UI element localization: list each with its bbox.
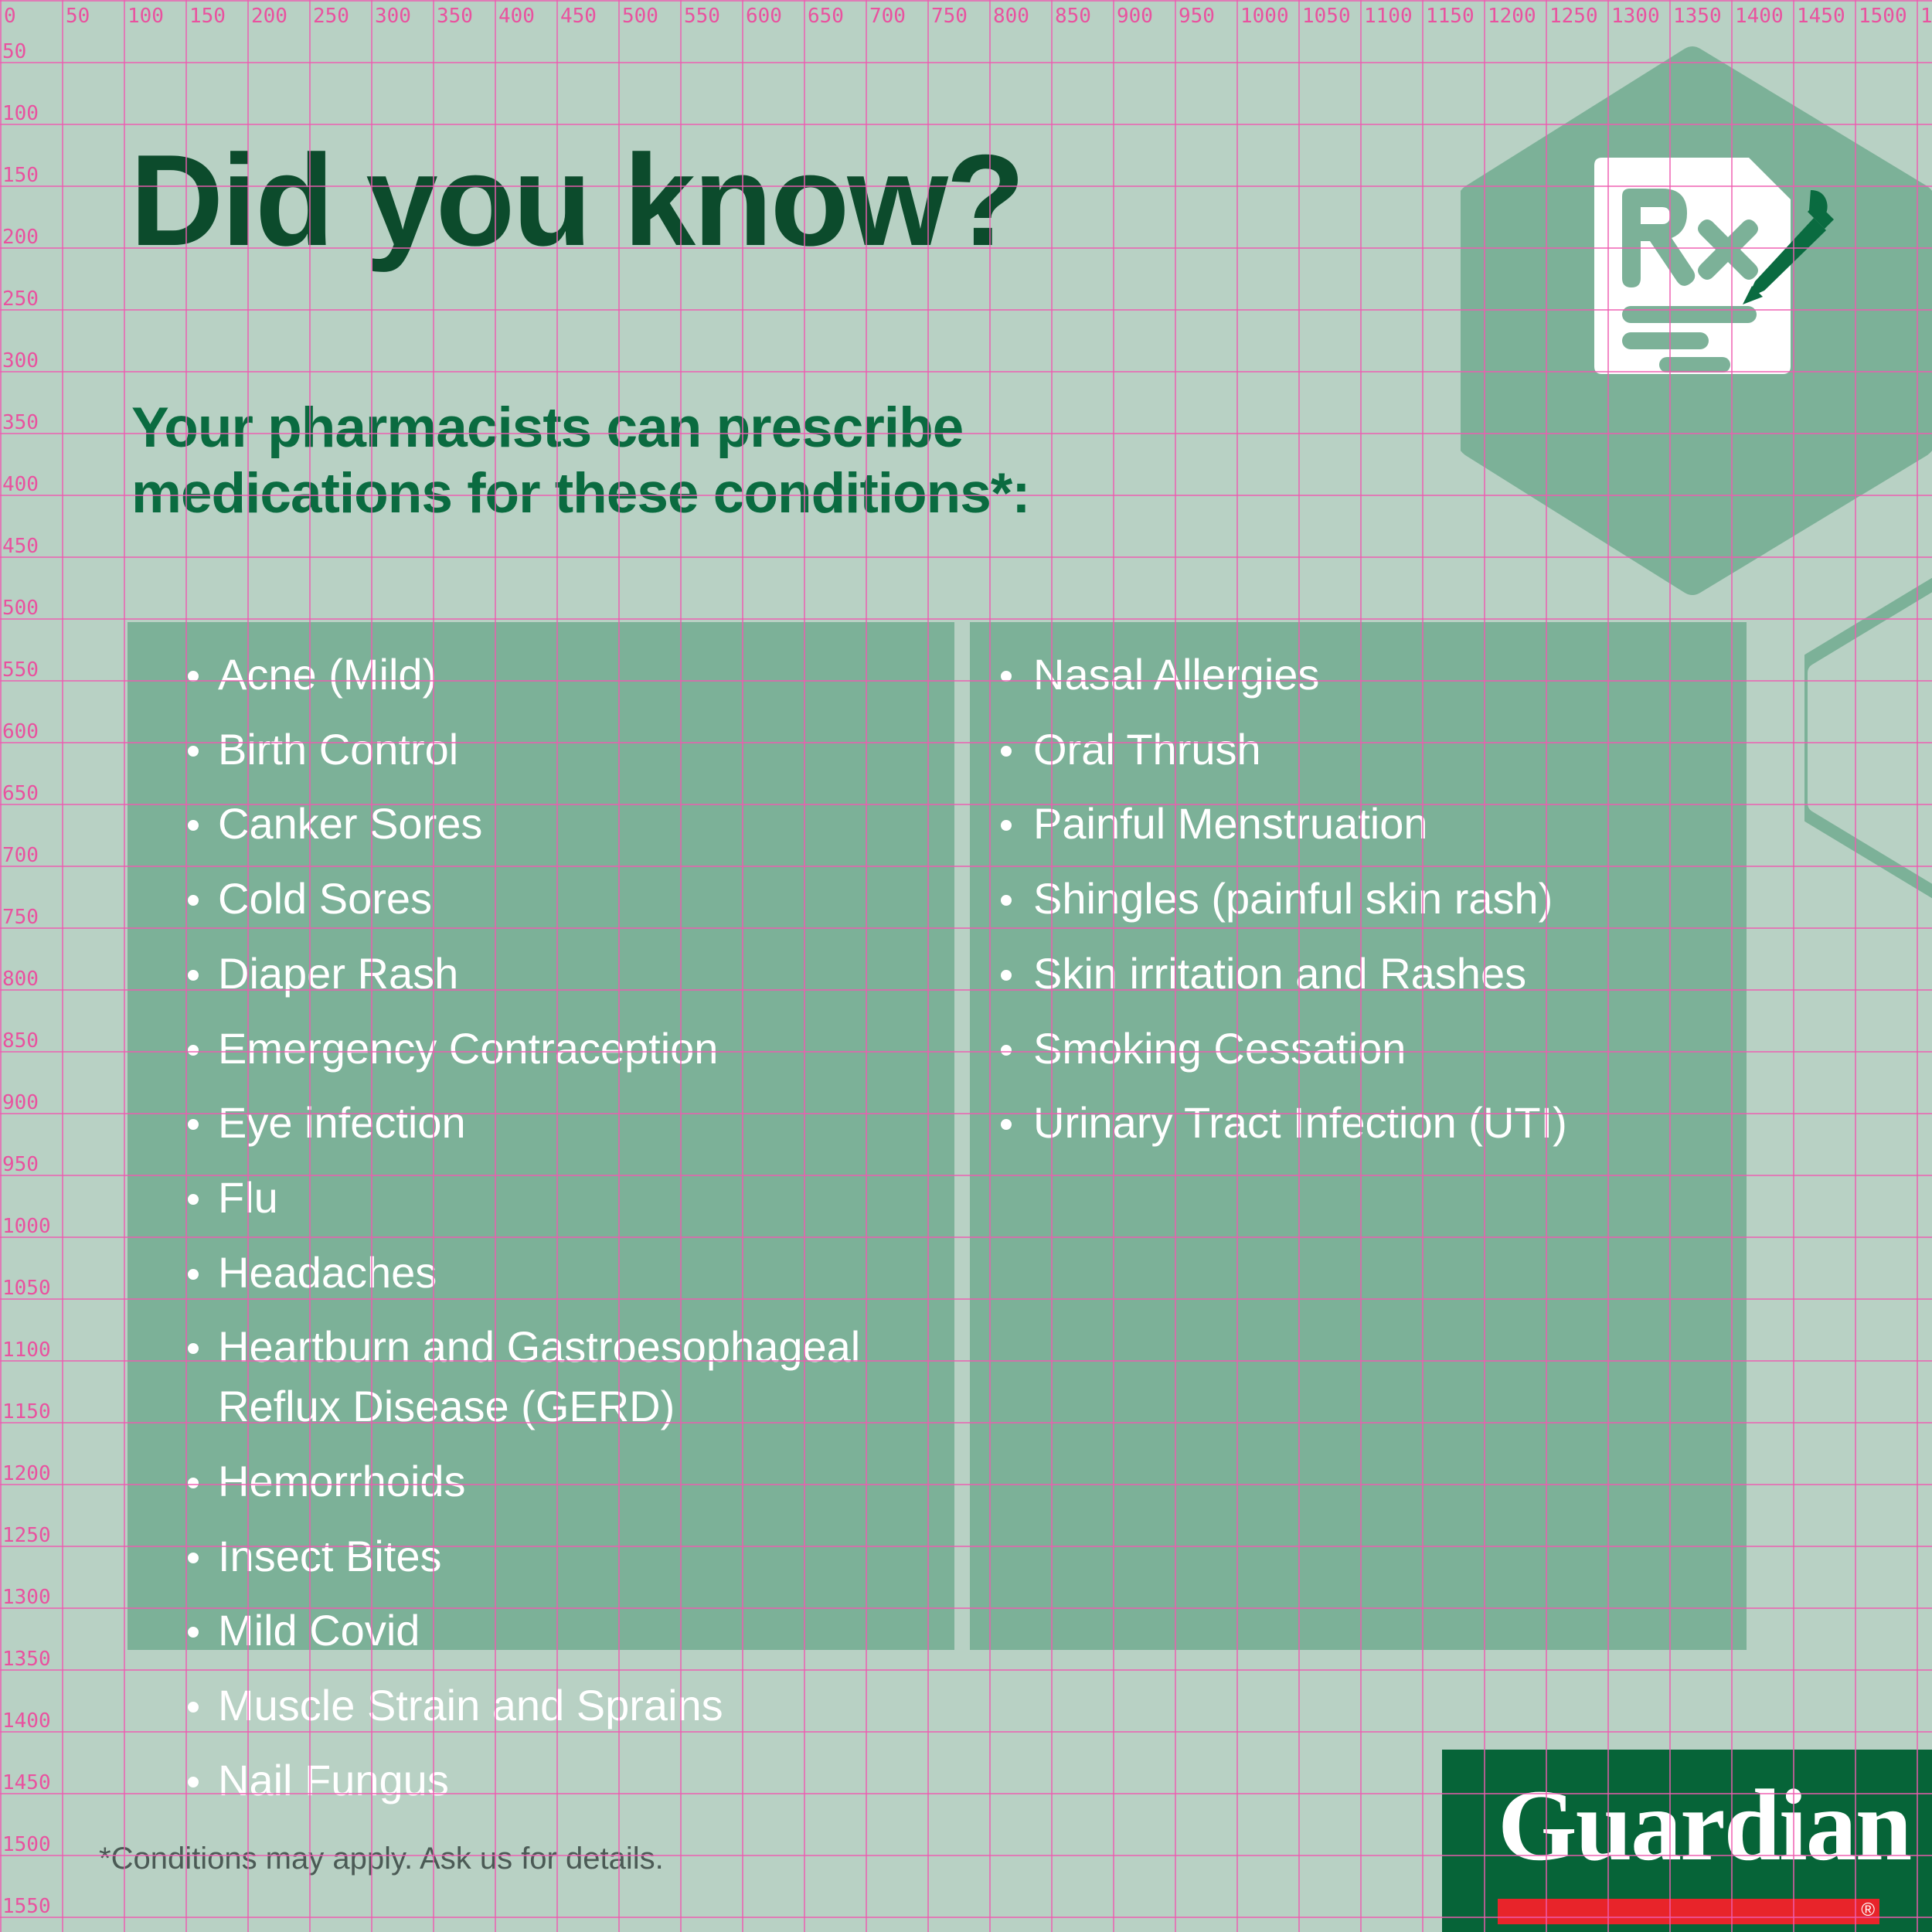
condition-list-item: Emergency Contraception [185, 1019, 927, 1079]
bullet-icon [1001, 1045, 1012, 1056]
grid-line-horizontal [0, 618, 1932, 620]
condition-list-item: Birth Control [185, 720, 927, 780]
grid-label-x: 50 [66, 6, 90, 26]
footnote-text: *Conditions may apply. Ask us for detail… [99, 1842, 664, 1876]
condition-label: Birth Control [218, 725, 458, 774]
condition-label: Headaches [218, 1248, 437, 1297]
grid-label-x: 200 [251, 6, 287, 26]
condition-label: Muscle Strain and Sprains [218, 1681, 723, 1730]
bullet-icon [188, 1702, 199, 1713]
subtitle-line-1: Your pharmacists can prescribe [131, 396, 1291, 461]
bullet-icon [188, 1194, 199, 1205]
grid-label-x: 600 [746, 6, 782, 26]
grid-label-y: 1100 [2, 1340, 51, 1360]
grid-label-x: 1250 [1549, 6, 1598, 26]
grid-label-y: 1550 [2, 1896, 51, 1917]
hexagon-outline-icon [1804, 568, 1932, 908]
bullet-icon [1001, 895, 1012, 906]
condition-label: Insect Bites [218, 1532, 441, 1580]
bullet-icon [188, 1553, 199, 1563]
grid-line-vertical [0, 0, 2, 1932]
grid-label-x: 0 [4, 6, 16, 26]
grid-label-y: 100 [2, 104, 39, 124]
guardian-logo: Guardian ® [1442, 1750, 1932, 1932]
grid-label-x: 1050 [1302, 6, 1351, 26]
bullet-icon [1001, 1119, 1012, 1130]
grid-label-x: 1200 [1488, 6, 1536, 26]
condition-label: Heartburn and Gastroesophageal Reflux Di… [218, 1322, 860, 1430]
grid-label-x: 1500 [1859, 6, 1907, 26]
grid-label-x: 450 [560, 6, 597, 26]
poster-canvas: Did you know? Your pharmacists can presc… [0, 0, 1932, 1932]
grid-label-x: 250 [313, 6, 349, 26]
condition-label: Painful Menstruation [1033, 799, 1428, 848]
condition-label: Eye infection [218, 1098, 466, 1147]
grid-line-vertical [1917, 0, 1918, 1932]
grid-label-x: 100 [128, 6, 164, 26]
condition-list-item: Painful Menstruation [1001, 794, 1743, 854]
grid-label-y: 400 [2, 474, 39, 495]
condition-list-item: Skin irritation and Rashes [1001, 944, 1743, 1004]
grid-label-y: 650 [2, 784, 39, 804]
condition-label: Nail Fungus [218, 1756, 449, 1804]
grid-label-y: 900 [2, 1093, 39, 1113]
grid-line-horizontal [0, 0, 1932, 2]
grid-line-vertical [124, 0, 125, 1932]
bullet-icon [188, 820, 199, 831]
bullet-icon [1001, 746, 1012, 757]
condition-list-item: Oral Thrush [1001, 720, 1743, 780]
grid-label-x: 1300 [1611, 6, 1660, 26]
grid-label-y: 750 [2, 907, 39, 927]
condition-list-item: Insect Bites [185, 1527, 927, 1587]
condition-list-item: Acne (Mild) [185, 645, 927, 705]
grid-label-x: 1350 [1673, 6, 1722, 26]
bullet-icon [1001, 820, 1012, 831]
condition-list-item: Nail Fungus [185, 1751, 927, 1811]
condition-list-item: Smoking Cessation [1001, 1019, 1743, 1079]
grid-label-x: 400 [498, 6, 535, 26]
bullet-icon [188, 970, 199, 981]
grid-line-vertical [1793, 0, 1794, 1932]
grid-label-x: 300 [375, 6, 411, 26]
grid-label-y: 850 [2, 1031, 39, 1051]
grid-label-x: 350 [437, 6, 473, 26]
grid-line-vertical [1855, 0, 1856, 1932]
grid-label-x: 650 [808, 6, 844, 26]
grid-label-y: 1200 [2, 1464, 51, 1484]
grid-label-y: 1500 [2, 1835, 51, 1855]
bullet-icon [188, 746, 199, 757]
condition-label: Shingles (painful skin rash) [1033, 874, 1553, 923]
bullet-icon [188, 1627, 199, 1638]
logo-wordmark: Guardian [1498, 1774, 1910, 1876]
condition-label: Acne (Mild) [218, 650, 437, 699]
page-subtitle: Your pharmacists can prescribe medicatio… [131, 396, 1291, 526]
grid-label-x: 1000 [1240, 6, 1289, 26]
grid-label-y: 150 [2, 165, 39, 185]
grid-label-y: 350 [2, 413, 39, 433]
grid-label-y: 300 [2, 351, 39, 371]
condition-list-item: Eye infection [185, 1094, 927, 1153]
condition-list-item: Urinary Tract Infection (UTI) [1001, 1094, 1743, 1153]
grid-line-horizontal [0, 371, 1932, 372]
grid-label-x: 1550 [1920, 6, 1932, 26]
condition-label: Skin irritation and Rashes [1033, 949, 1526, 998]
condition-label: Diaper Rash [218, 949, 458, 998]
condition-label: Mild Covid [218, 1606, 420, 1655]
bullet-icon [188, 1777, 199, 1787]
grid-label-y: 1050 [2, 1278, 51, 1298]
condition-list-item: Muscle Strain and Sprains [185, 1676, 927, 1736]
grid-label-y: 1250 [2, 1526, 51, 1546]
grid-label-y: 250 [2, 289, 39, 309]
condition-list-item: Diaper Rash [185, 944, 927, 1004]
grid-label-y: 200 [2, 227, 39, 247]
grid-label-y: 450 [2, 536, 39, 556]
grid-line-vertical [62, 0, 63, 1932]
grid-label-x: 1100 [1364, 6, 1413, 26]
page-title: Did you know? [130, 135, 1023, 265]
grid-label-x: 950 [1179, 6, 1215, 26]
grid-label-x: 500 [622, 6, 658, 26]
grid-label-y: 1150 [2, 1402, 51, 1422]
grid-label-y: 500 [2, 598, 39, 618]
condition-list-item: Cold Sores [185, 869, 927, 929]
bullet-icon [1001, 970, 1012, 981]
condition-list-item: Hemorrhoids [185, 1452, 927, 1512]
grid-line-horizontal [0, 62, 1932, 63]
grid-label-x: 900 [1117, 6, 1153, 26]
grid-label-x: 700 [869, 6, 906, 26]
grid-label-x: 800 [993, 6, 1029, 26]
condition-label: Flu [218, 1173, 278, 1222]
bullet-icon [188, 1478, 199, 1488]
grid-label-x: 1150 [1426, 6, 1475, 26]
pencil-icon [1743, 190, 1834, 304]
condition-list-item: Canker Sores [185, 794, 927, 854]
condition-label: Urinary Tract Infection (UTI) [1033, 1098, 1567, 1147]
grid-line-horizontal [0, 309, 1932, 311]
grid-label-x: 1450 [1797, 6, 1845, 26]
grid-label-x: 150 [189, 6, 226, 26]
rx-prescription-icon [1588, 155, 1835, 386]
grid-label-y: 700 [2, 845, 39, 866]
grid-label-y: 550 [2, 660, 39, 680]
condition-label: Canker Sores [218, 799, 482, 848]
conditions-list-right: Nasal AllergiesOral ThrushPainful Menstr… [1001, 645, 1743, 1168]
condition-label: Cold Sores [218, 874, 432, 923]
bullet-icon [188, 1045, 199, 1056]
grid-label-y: 800 [2, 969, 39, 989]
grid-label-x: 1400 [1735, 6, 1784, 26]
grid-label-y: 1350 [2, 1649, 51, 1669]
grid-label-y: 1450 [2, 1773, 51, 1793]
condition-label: Hemorrhoids [218, 1457, 466, 1505]
bullet-icon [188, 1269, 199, 1280]
condition-list-item: Shingles (painful skin rash) [1001, 869, 1743, 929]
condition-label: Nasal Allergies [1033, 650, 1319, 699]
condition-list-item: Flu [185, 1168, 927, 1228]
bullet-icon [188, 1343, 199, 1354]
grid-label-x: 750 [931, 6, 968, 26]
grid-label-x: 850 [1055, 6, 1091, 26]
condition-label: Emergency Contraception [218, 1024, 718, 1073]
bullet-icon [188, 1119, 199, 1130]
condition-list-item: Mild Covid [185, 1601, 927, 1661]
condition-label: Smoking Cessation [1033, 1024, 1406, 1073]
bullet-icon [188, 895, 199, 906]
grid-label-y: 1000 [2, 1216, 51, 1236]
grid-line-horizontal [0, 124, 1932, 125]
grid-label-x: 550 [684, 6, 720, 26]
grid-label-y: 50 [2, 42, 26, 62]
bullet-icon [1001, 671, 1012, 682]
subtitle-line-2: medications for these conditions*: [131, 461, 1291, 527]
grid-label-y: 1400 [2, 1711, 51, 1731]
grid-label-y: 1300 [2, 1587, 51, 1607]
condition-list-item: Nasal Allergies [1001, 645, 1743, 705]
condition-list-item: Heartburn and Gastroesophageal Reflux Di… [185, 1318, 927, 1436]
grid-label-y: 950 [2, 1155, 39, 1175]
logo-red-bar: ® [1498, 1899, 1879, 1924]
condition-list-item: Headaches [185, 1243, 927, 1303]
conditions-list-left: Acne (Mild)Birth ControlCanker SoresCold… [185, 645, 927, 1826]
registered-trademark-icon: ® [1861, 1901, 1875, 1920]
grid-line-horizontal [0, 556, 1932, 558]
bullet-icon [188, 671, 199, 682]
hexagon-solid-icon [1461, 43, 1932, 599]
condition-label: Oral Thrush [1033, 725, 1261, 774]
grid-label-y: 600 [2, 722, 39, 742]
